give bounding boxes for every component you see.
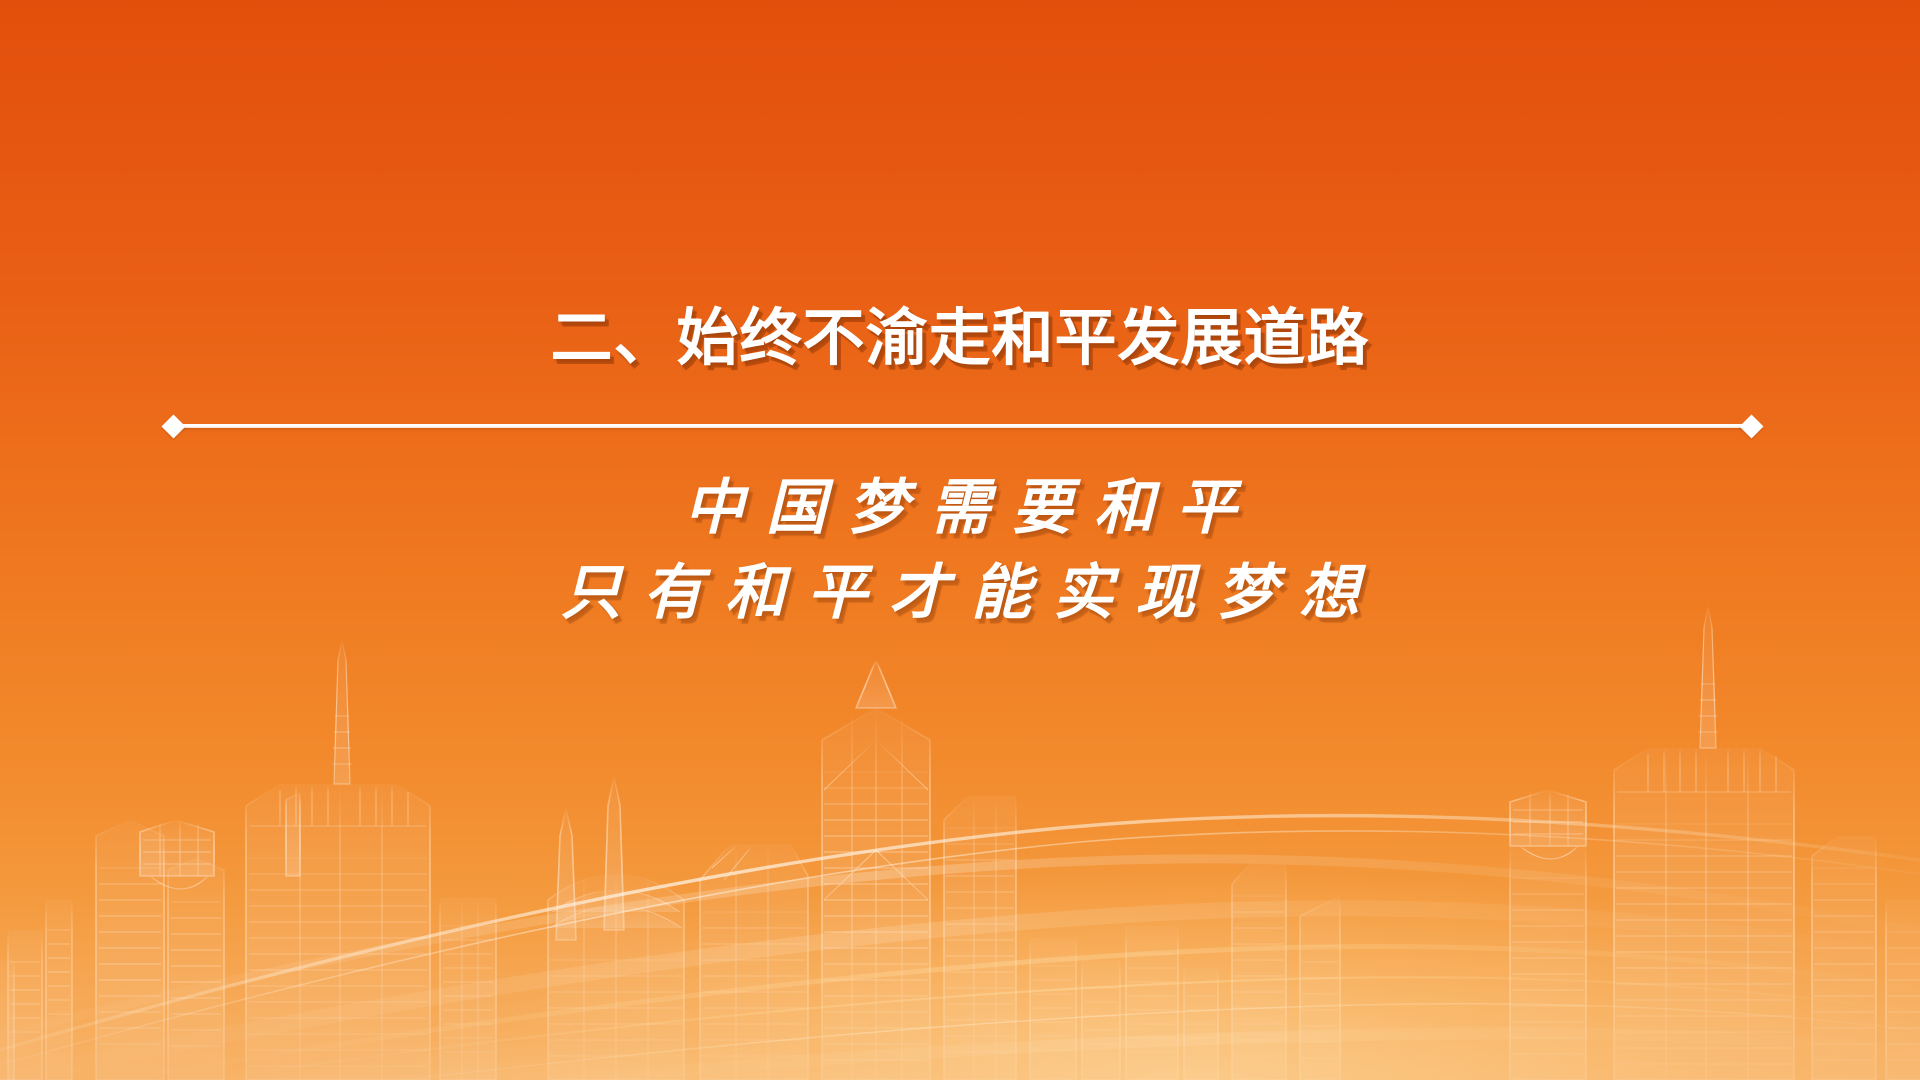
warm-glow-overlay [0, 600, 1920, 1080]
divider-rule [180, 424, 1745, 428]
diamond-icon-left [161, 414, 185, 438]
section-divider [165, 414, 1760, 438]
diamond-icon-right [1739, 414, 1763, 438]
title-block: 二、始终不渝走和平发展道路 [0, 304, 1920, 373]
body-text-block: 中国梦需要和平 只有和平才能实现梦想 [0, 466, 1920, 636]
page-title: 二、始终不渝走和平发展道路 [0, 304, 1920, 373]
body-line-1: 中国梦需要和平 [0, 466, 1920, 551]
body-line-2: 只有和平才能实现梦想 [0, 551, 1920, 636]
slide-canvas: 二、始终不渝走和平发展道路 中国梦需要和平 只有和平才能实现梦想 [0, 0, 1920, 1080]
